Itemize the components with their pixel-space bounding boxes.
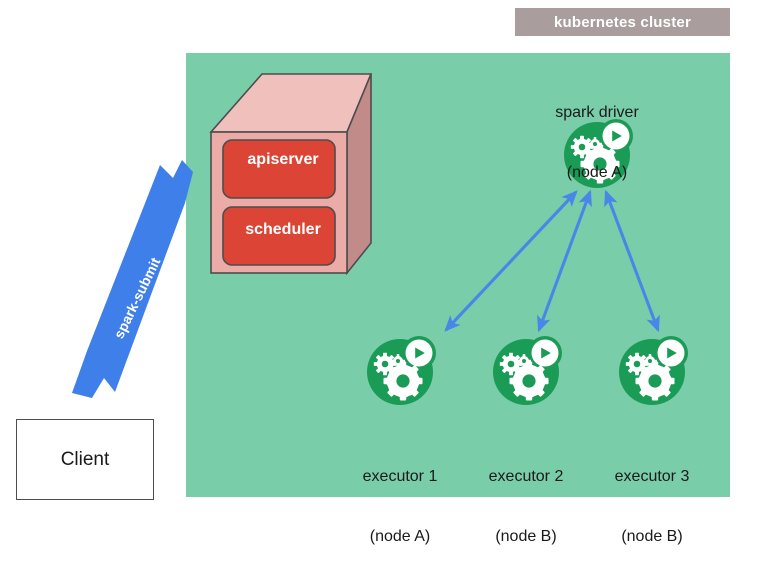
executor-2-icon[interactable] xyxy=(493,336,562,405)
executor-2-label: executor 2 (node B) xyxy=(456,427,596,567)
executor-1-label-line2: (node A) xyxy=(330,527,470,547)
spark-submit-arrow[interactable] xyxy=(72,160,193,398)
apiserver-label: apiserver xyxy=(229,151,337,169)
executor-1-icon[interactable] xyxy=(367,336,436,405)
spark-driver-label: spark driver (node A) xyxy=(517,63,677,203)
link-driver-executor-3[interactable] xyxy=(606,192,658,330)
scheduler-label: scheduler xyxy=(229,221,337,239)
client-label: Client xyxy=(61,449,110,471)
link-driver-executor-2[interactable] xyxy=(539,192,590,330)
spark-driver-label-line2: (node A) xyxy=(517,163,677,183)
executor-2-label-line1: executor 2 xyxy=(456,467,596,487)
executor-2-label-line2: (node B) xyxy=(456,527,596,547)
executor-3-icon[interactable] xyxy=(619,336,688,405)
cube-top-face xyxy=(211,74,371,132)
control-plane-cube xyxy=(211,74,371,273)
client-box[interactable]: Client xyxy=(16,419,154,500)
executor-3-label: executor 3 (node B) xyxy=(582,427,722,567)
executor-3-label-line1: executor 3 xyxy=(582,467,722,487)
link-driver-executor-1[interactable] xyxy=(446,192,576,330)
spark-driver-label-line1: spark driver xyxy=(517,103,677,123)
executor-1-label: executor 1 (node A) xyxy=(330,427,470,567)
apiserver-block[interactable] xyxy=(223,140,335,198)
executor-1-label-line1: executor 1 xyxy=(330,467,470,487)
executor-3-label-line2: (node B) xyxy=(582,527,722,547)
driver-executor-links xyxy=(446,192,658,330)
